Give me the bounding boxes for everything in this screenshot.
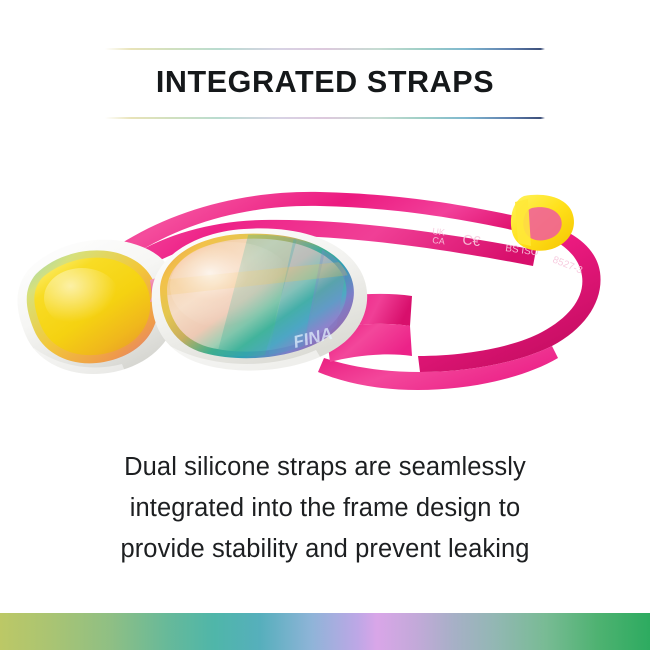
bottom-divider <box>105 117 545 119</box>
header: INTEGRATED STRAPS <box>0 0 650 132</box>
marking-ukca-line2: CA <box>432 235 446 246</box>
top-divider <box>105 48 545 50</box>
caption-line-3: provide stability and prevent leaking <box>55 529 595 570</box>
product-image-goggles: UK CA C€ BS ISO 8527-3 FINA <box>0 150 650 420</box>
lens-left-highlight <box>44 268 120 328</box>
caption-line-1: Dual silicone straps are seamlessly <box>55 447 595 488</box>
caption-line-2: integrated into the frame design to <box>55 488 595 529</box>
marking-ce: C€ <box>462 231 482 249</box>
page-title: INTEGRATED STRAPS <box>0 60 650 104</box>
iridescent-gradient-bar <box>0 613 650 650</box>
caption-text: Dual silicone straps are seamlessly inte… <box>55 447 595 570</box>
